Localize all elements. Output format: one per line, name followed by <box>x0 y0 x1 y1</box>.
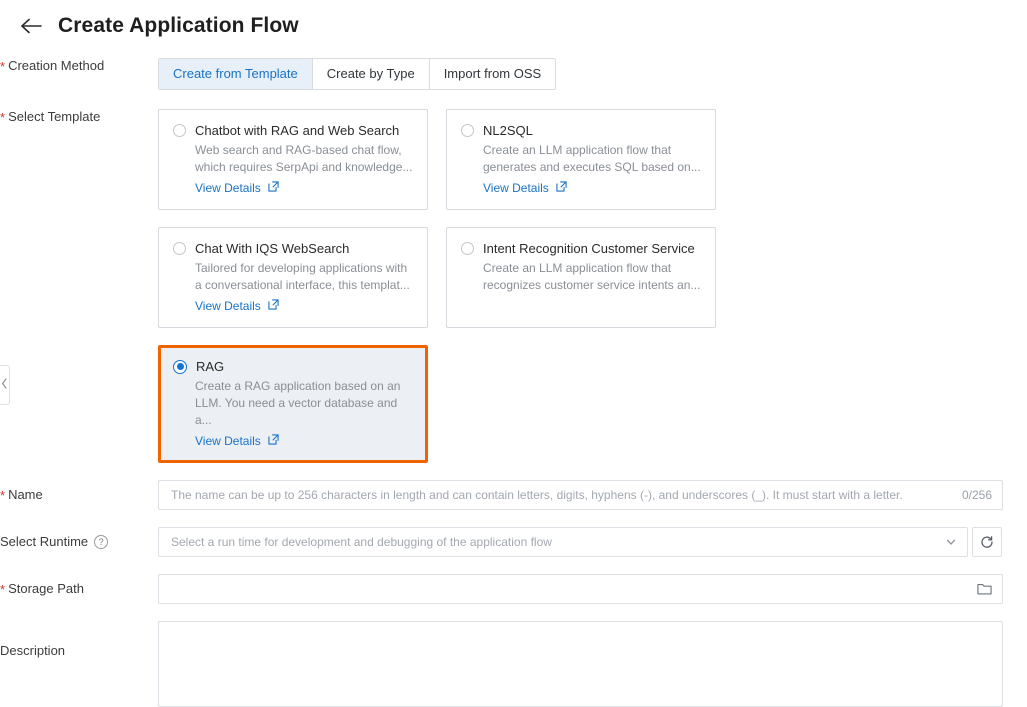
sidebar-collapse-toggle[interactable] <box>0 365 10 405</box>
select-runtime-row: Select Runtime ? Select a run time for d… <box>0 510 1027 557</box>
refresh-runtime-button[interactable] <box>972 527 1002 557</box>
card-head: NL2SQL <box>461 123 701 138</box>
card-head: Intent Recognition Customer Service <box>461 241 701 256</box>
external-link-icon <box>268 299 279 313</box>
creation-method-row: * Creation Method Create from Template C… <box>0 40 1027 90</box>
view-details-label: View Details <box>195 299 261 313</box>
template-radio[interactable] <box>173 124 186 137</box>
select-runtime-placeholder: Select a run time for development and de… <box>171 535 945 549</box>
description-label: Description <box>0 621 158 658</box>
template-description: Tailored for developing applications wit… <box>195 260 413 294</box>
name-input-placeholder: The name can be up to 256 characters in … <box>171 488 952 502</box>
view-details-link[interactable]: View Details <box>483 181 567 195</box>
required-asterisk: * <box>0 60 5 73</box>
external-link-icon <box>268 434 279 448</box>
template-radio[interactable] <box>461 124 474 137</box>
page-header: Create Application Flow <box>0 0 1027 40</box>
folder-icon[interactable] <box>977 582 992 596</box>
external-link-icon <box>556 181 567 195</box>
storage-path-input[interactable] <box>158 574 1003 604</box>
question-circle-icon[interactable]: ? <box>94 535 108 549</box>
view-details-link[interactable]: View Details <box>195 299 279 313</box>
creation-method-label: * Creation Method <box>0 58 158 73</box>
creation-method-tabs: Create from Template Create by Type Impo… <box>158 58 556 90</box>
view-details-link[interactable]: View Details <box>195 434 279 448</box>
required-asterisk: * <box>0 583 5 596</box>
name-char-counter: 0/256 <box>952 488 992 502</box>
select-runtime-dropdown[interactable]: Select a run time for development and de… <box>158 527 968 557</box>
view-details-link[interactable]: View Details <box>195 181 279 195</box>
storage-path-row: * Storage Path <box>0 557 1027 604</box>
template-title: Chatbot with RAG and Web Search <box>195 123 399 138</box>
external-link-icon <box>268 181 279 195</box>
select-runtime-group: Select a run time for development and de… <box>158 527 1002 557</box>
template-radio[interactable] <box>461 242 474 255</box>
tab-create-from-template[interactable]: Create from Template <box>159 59 313 89</box>
tab-import-from-oss[interactable]: Import from OSS <box>430 59 556 89</box>
template-description: Create a RAG application based on an LLM… <box>195 378 413 429</box>
page-title: Create Application Flow <box>58 14 299 38</box>
required-asterisk: * <box>0 111 5 124</box>
template-radio[interactable] <box>173 360 187 374</box>
template-description: Web search and RAG-based chat flow, whic… <box>195 142 413 176</box>
template-title: Intent Recognition Customer Service <box>483 241 695 256</box>
name-row: * Name The name can be up to 256 charact… <box>0 463 1027 510</box>
chevron-left-icon <box>1 376 8 394</box>
card-head: RAG <box>173 359 413 374</box>
template-card-rag[interactable]: RAG Create a RAG application based on an… <box>158 345 428 463</box>
card-head: Chat With IQS WebSearch <box>173 241 413 256</box>
select-template-row: * Select Template Chatbot with RAG and W… <box>0 90 1027 463</box>
template-description: Create an LLM application flow that reco… <box>483 260 701 294</box>
create-application-flow-form: * Creation Method Create from Template C… <box>0 40 1027 707</box>
template-title: Chat With IQS WebSearch <box>195 241 349 256</box>
template-card-chatbot-with-rag-and-web-search[interactable]: Chatbot with RAG and Web Search Web sear… <box>158 109 428 210</box>
view-details-label: View Details <box>195 181 261 195</box>
required-asterisk: * <box>0 489 5 502</box>
tab-create-by-type[interactable]: Create by Type <box>313 59 430 89</box>
template-title: NL2SQL <box>483 123 533 138</box>
template-card-chat-with-iqs-websearch[interactable]: Chat With IQS WebSearch Tailored for dev… <box>158 227 428 328</box>
name-input[interactable]: The name can be up to 256 characters in … <box>158 480 1003 510</box>
description-row: Description <box>0 604 1027 707</box>
select-template-label: * Select Template <box>0 109 158 124</box>
name-label: * Name <box>0 480 158 502</box>
select-runtime-label: Select Runtime ? <box>0 527 158 549</box>
view-details-label: View Details <box>195 434 261 448</box>
template-radio[interactable] <box>173 242 186 255</box>
template-card-grid: Chatbot with RAG and Web Search Web sear… <box>158 109 1003 463</box>
chevron-down-icon[interactable] <box>945 536 957 548</box>
template-description: Create an LLM application flow that gene… <box>483 142 701 176</box>
storage-path-label: * Storage Path <box>0 574 158 596</box>
card-head: Chatbot with RAG and Web Search <box>173 123 413 138</box>
template-title: RAG <box>196 359 224 374</box>
description-textarea[interactable] <box>158 621 1003 707</box>
template-card-intent-recognition-customer-service[interactable]: Intent Recognition Customer Service Crea… <box>446 227 716 328</box>
template-card-nl2sql[interactable]: NL2SQL Create an LLM application flow th… <box>446 109 716 210</box>
view-details-label: View Details <box>483 181 549 195</box>
arrow-left-icon[interactable] <box>18 13 44 39</box>
